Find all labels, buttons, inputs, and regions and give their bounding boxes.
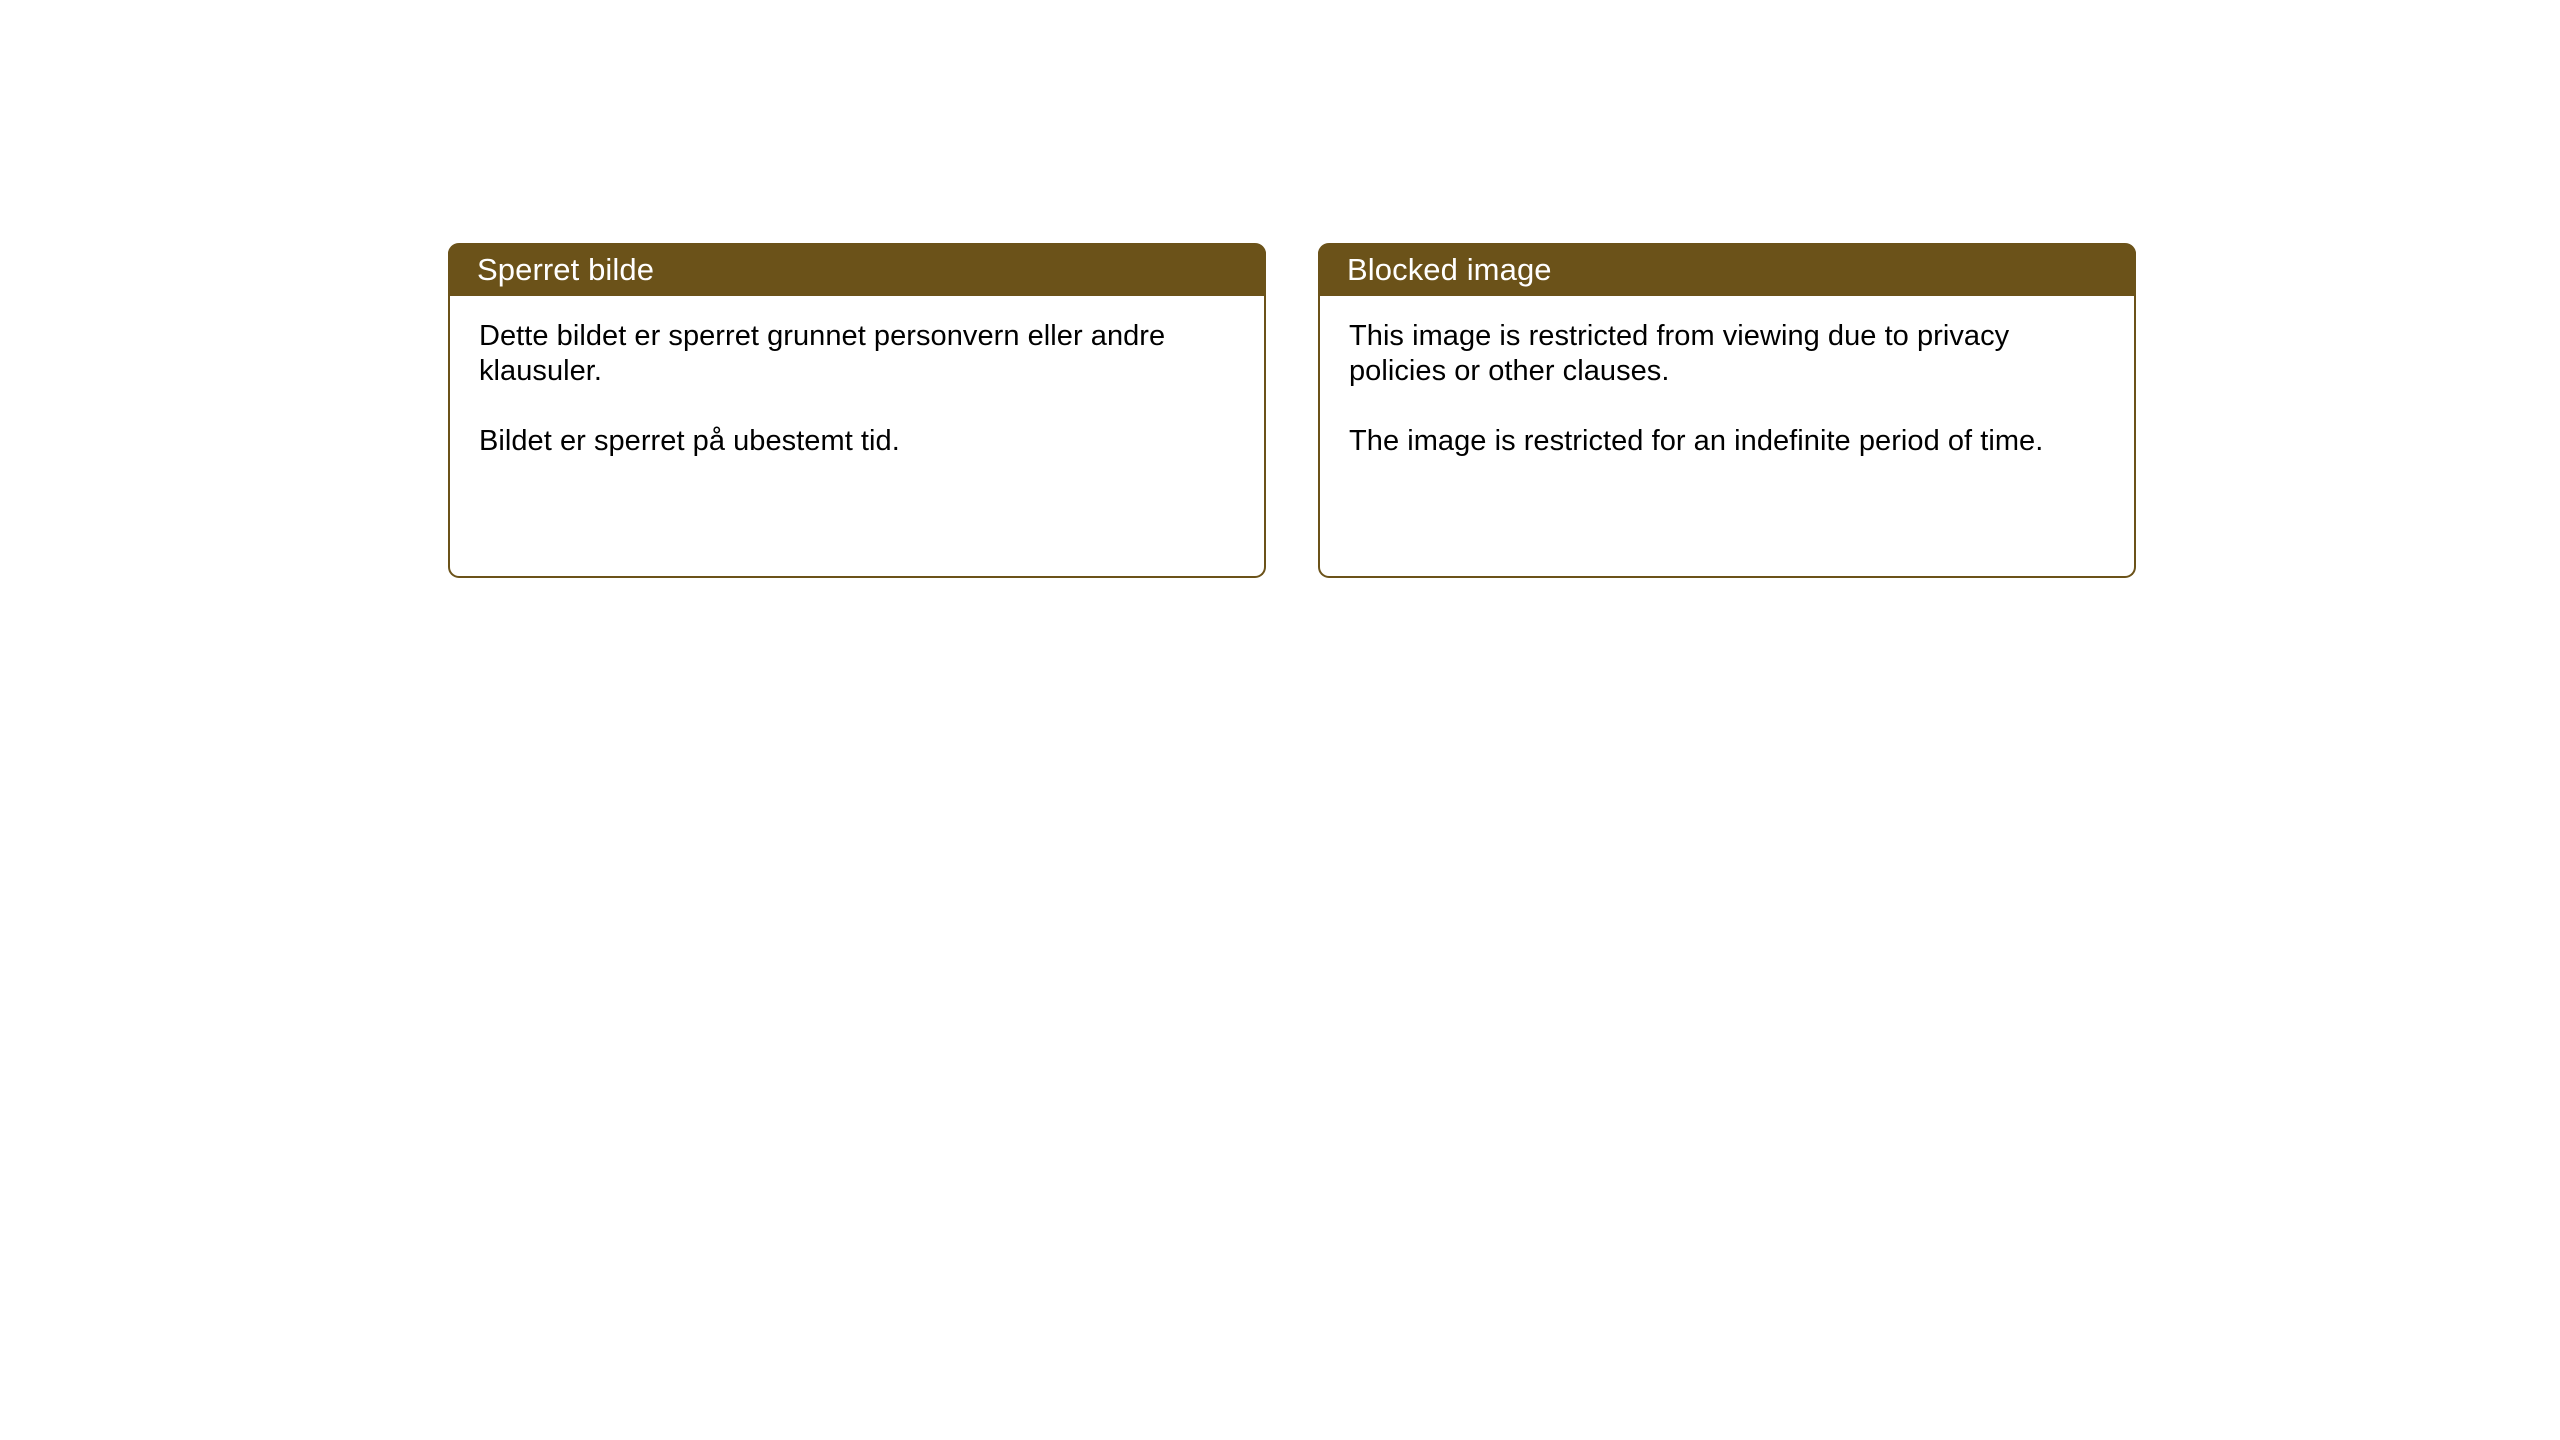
blocked-image-card-norwegian: Sperret bilde Dette bildet er sperret gr… (448, 243, 1266, 578)
card-paragraph-norwegian-1: Dette bildet er sperret grunnet personve… (479, 319, 1238, 389)
card-header-norwegian: Sperret bilde (448, 243, 1266, 296)
blocked-image-card-english: Blocked image This image is restricted f… (1318, 243, 2136, 578)
card-paragraph-norwegian-2: Bildet er sperret på ubestemt tid. (479, 424, 1238, 459)
card-title-english: Blocked image (1347, 251, 1552, 289)
card-body-norwegian: Dette bildet er sperret grunnet personve… (450, 296, 1264, 459)
card-body-english: This image is restricted from viewing du… (1320, 296, 2134, 459)
card-title-norwegian: Sperret bilde (477, 251, 654, 289)
card-header-english: Blocked image (1318, 243, 2136, 296)
card-paragraph-english-2: The image is restricted for an indefinit… (1349, 424, 2108, 459)
card-paragraph-english-1: This image is restricted from viewing du… (1349, 319, 2108, 389)
blocked-image-notice-area: Sperret bilde Dette bildet er sperret gr… (0, 0, 2560, 1440)
